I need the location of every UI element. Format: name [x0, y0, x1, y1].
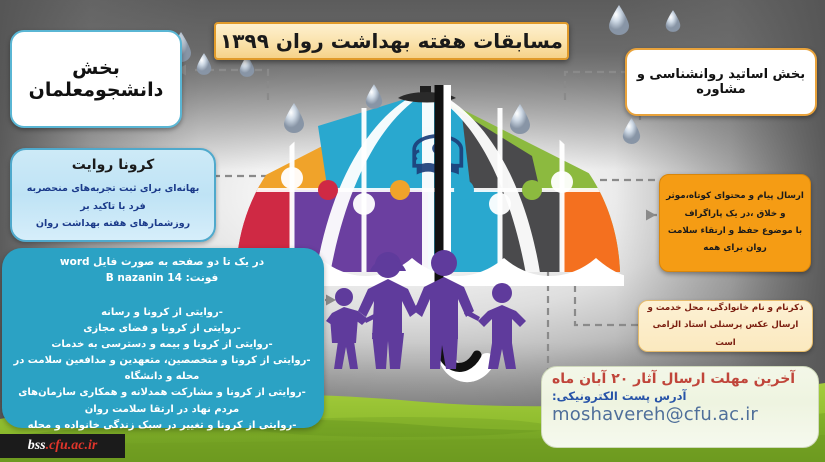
korona-narrative-box[interactable]: کرونا روایت بهانه‌ای برای ثبت تجربه‌های … — [10, 148, 216, 242]
contact-deadline-box[interactable]: آخرین مهلت ارسال آثار ۲۰ آبان ماه آدرس پ… — [541, 366, 819, 448]
list-item: -روایتی از کرونا و رسانه — [12, 305, 312, 321]
watermark-part-2: .cfu.ac.ir — [46, 438, 98, 454]
list-item: -روایتی از کرونا و بیمه و دسترسی به خدما… — [12, 337, 312, 353]
section-students-box[interactable]: بخش دانشجومعلمان — [10, 30, 182, 128]
list-item: -روایتی از کرونا و متخصصین، متعهدین و مد… — [12, 353, 312, 385]
deadline-text: آخرین مهلت ارسال آثار ۲۰ آبان ماه — [552, 371, 795, 387]
section-students-title: بخش دانشجومعلمان — [12, 57, 180, 101]
poster-canvas: بخش دانشجومعلمان بخش اساتید روانشناسی و … — [0, 0, 825, 462]
raindrop-icon — [196, 53, 212, 75]
page-title: مسابقات هفته بهداشت روان ۱۳۹۹ — [220, 29, 563, 53]
list-item: -روایتی از کرونا و فضای مجازی — [12, 321, 312, 337]
email-address[interactable]: moshavereh@cfu.ac.ir — [552, 404, 758, 425]
poster-title-banner: مسابقات هفته بهداشت روان ۱۳۹۹ — [214, 22, 569, 60]
site-watermark[interactable]: bss.cfu.ac.ir — [0, 434, 125, 458]
raindrop-icon — [509, 104, 531, 134]
section-professors-box[interactable]: بخش اساتید روانشناسی و مشاوره — [625, 48, 817, 116]
send-line: روان برای همه — [703, 240, 767, 257]
format-line-2: فونت: B nazanin 14 — [12, 270, 312, 286]
raindrop-icon — [622, 118, 641, 144]
email-label: آدرس پست الکترونیکی: — [552, 389, 686, 403]
note-line: ارسال عکس پرسنلی استاد الزامی است — [645, 317, 806, 351]
format-line-1: در یک تا دو صفحه به صورت فایل word — [12, 254, 312, 270]
note-line: ذکرنام و نام خانوادگی، محل خدمت و — [648, 300, 804, 317]
send-line: و خلاق ،در یک پاراگراف — [684, 206, 785, 223]
message-submission-box[interactable]: ارسال پیام و محتوای کوتاه،موثر و خلاق ،د… — [659, 174, 811, 272]
list-item: -روایتی از کرونا و تغییر در سبک زندگی خا… — [12, 418, 312, 434]
raindrop-icon — [365, 84, 383, 109]
send-line: با موضوع حفظ و ارتقاء سلامت — [668, 223, 802, 240]
raindrop-icon — [283, 103, 305, 133]
korona-heading: کرونا روایت — [72, 157, 155, 173]
korona-subtitle-line2: روزشمارهای هفته بهداشت روان — [36, 215, 190, 233]
required-info-note-box[interactable]: ذکرنام و نام خانوادگی، محل خدمت و ارسال … — [638, 300, 813, 352]
raindrop-icon — [665, 10, 681, 32]
list-item: -روایتی از کرونا و مشارکت همدلانه و همکا… — [12, 385, 312, 417]
watermark-part-1: bss — [28, 438, 46, 454]
raindrop-icon — [608, 5, 630, 35]
send-line: ارسال پیام و محتوای کوتاه،موثر — [666, 188, 804, 205]
family-silhouette-graphic — [320, 247, 544, 372]
korona-subtitle-line1: بهانه‌ای برای ثبت تجربه‌های منحصربه فرد … — [20, 180, 206, 215]
submission-details-box[interactable]: در یک تا دو صفحه به صورت فایل word فونت:… — [2, 248, 324, 428]
topic-list: -روایتی از کرونا و رسانه -روایتی از کرون… — [12, 305, 312, 435]
section-professors-title: بخش اساتید روانشناسی و مشاوره — [627, 67, 815, 97]
